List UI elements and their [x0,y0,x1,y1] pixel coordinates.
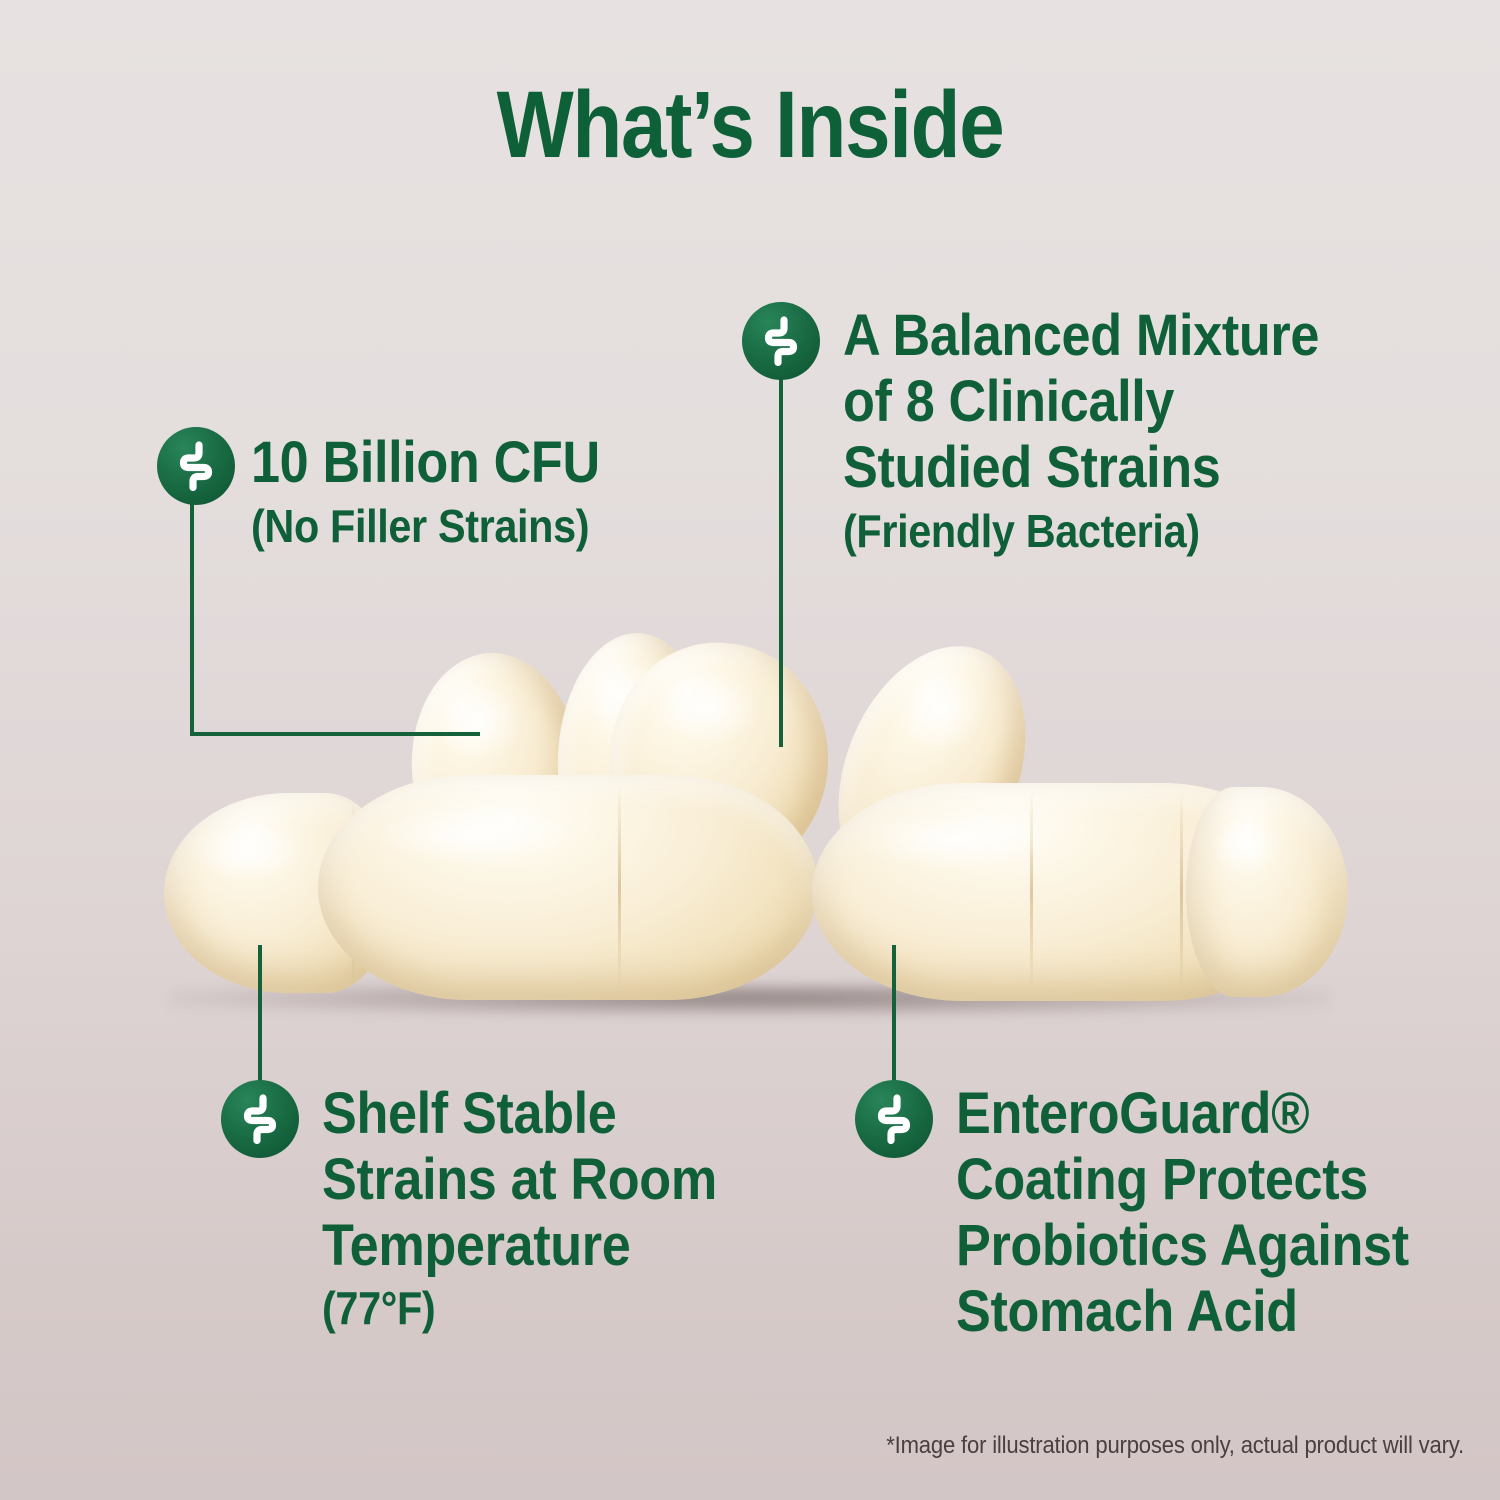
callout-text-strains: A Balanced Mixture of 8 Clinically Studi… [843,303,1372,561]
callout-headline-strains-l3: Studied Strains [843,435,1319,501]
callout-text-enteroguard: EnteroGuard® Coating Protects Probiotics… [956,1081,1459,1345]
intestine-icon [170,440,222,492]
callout-subtext-strains: (Friendly Bacteria) [843,501,1319,561]
callout-headline-shelf-l3: Temperature [322,1213,717,1279]
intestine-icon [755,315,807,367]
leader-line-vertical-shelf [258,945,262,1095]
callout-headline-strains-l1: A Balanced Mixture [843,303,1319,369]
badge-enteroguard [855,1080,933,1158]
illustration-disclaimer: *Image for illustration purposes only, a… [886,1432,1464,1460]
callout-headline-enteroguard-l4: Stomach Acid [956,1279,1409,1345]
intestine-icon [234,1093,286,1145]
leader-line-vertical-cfu [190,500,194,736]
callout-headline-enteroguard-l2: Coating Protects [956,1147,1409,1213]
page-title: What’s Inside [105,78,1395,173]
callout-headline-shelf-l2: Strains at Room [322,1147,717,1213]
callout-text-cfu: 10 Billion CFU (No Filler Strains) [251,430,639,556]
leader-line-horizontal-cfu [190,732,480,736]
intestine-icon [868,1093,920,1145]
callout-headline-cfu: 10 Billion CFU [251,430,600,496]
callout-headline-enteroguard-l1: EnteroGuard® [956,1081,1409,1147]
badge-strains [742,302,820,380]
leader-line-vertical-enteroguard [892,945,896,1095]
badge-shelf-stable [221,1080,299,1158]
callout-headline-shelf-l1: Shelf Stable [322,1081,717,1147]
callout-headline-enteroguard-l3: Probiotics Against [956,1213,1409,1279]
capsule-front-far-right [1186,787,1348,997]
product-capsule-image [140,615,1370,1040]
leader-line-vertical-strains [779,372,783,747]
badge-cfu [157,427,235,505]
callout-text-shelf-stable: Shelf Stable Strains at Room Temperature… [322,1081,761,1337]
callout-headline-strains-l2: of 8 Clinically [843,369,1319,435]
callout-subtext-shelf: (77°F) [322,1279,717,1337]
callout-subtext-cfu: (No Filler Strains) [251,496,600,556]
capsule-front-left [318,775,818,1000]
